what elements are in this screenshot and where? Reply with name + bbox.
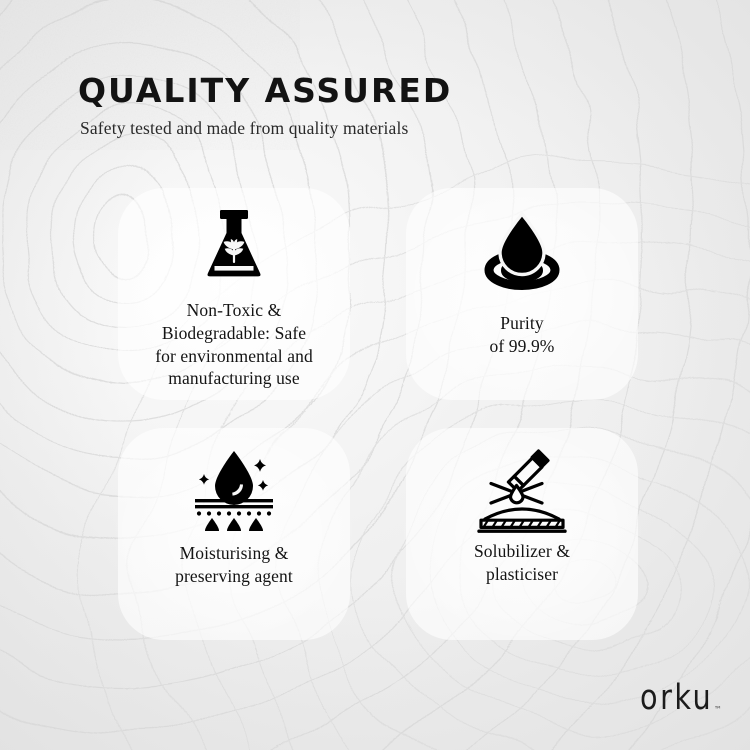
pipette-dropper-surface-icon [476, 442, 568, 538]
feature-card-text: Moisturising & preserving agent [169, 542, 299, 588]
feature-card-text: Purity of 99.9% [484, 312, 561, 358]
brand-logo-wordmark: orku [640, 681, 713, 716]
feature-line: preserving agent [175, 566, 293, 586]
water-drop-ripple-icon [480, 206, 564, 294]
feature-line: plasticiser [486, 564, 558, 584]
quality-assured-infographic: QUALITY ASSURED Safety tested and made f… [0, 0, 750, 750]
feature-card-non-toxic-biodegradable: Non-Toxic & Biodegradable: Safe for envi… [118, 188, 350, 400]
feature-line: Non-Toxic & [187, 300, 282, 320]
trademark-icon: ™ [714, 705, 722, 714]
feature-line: manufacturing use [168, 368, 299, 388]
page-title: QUALITY ASSURED [78, 74, 678, 109]
feature-line: for environmental and [155, 346, 313, 366]
feature-line: Biodegradable: Safe [162, 323, 306, 343]
feature-card-text: Solubilizer & plasticiser [468, 540, 576, 586]
droplet-sparkle-surface-icon [192, 442, 276, 538]
flask-leaf-icon [203, 202, 265, 290]
feature-card-solubilizer-plasticiser: Solubilizer & plasticiser [406, 428, 638, 640]
feature-line: Purity [500, 313, 543, 333]
brand-logo: orku ™ [624, 681, 722, 716]
feature-line: Moisturising & [180, 543, 289, 563]
feature-line: Solubilizer & [474, 541, 570, 561]
feature-card-purity: Purity of 99.9% [406, 188, 638, 400]
feature-card-grid: Non-Toxic & Biodegradable: Safe for envi… [118, 188, 638, 640]
header: QUALITY ASSURED Safety tested and made f… [78, 74, 678, 139]
feature-card-text: Non-Toxic & Biodegradable: Safe for envi… [149, 299, 319, 390]
page-subtitle: Safety tested and made from quality mate… [80, 118, 678, 139]
feature-line: of 99.9% [490, 336, 555, 356]
feature-card-moisturising-preserving: Moisturising & preserving agent [118, 428, 350, 640]
